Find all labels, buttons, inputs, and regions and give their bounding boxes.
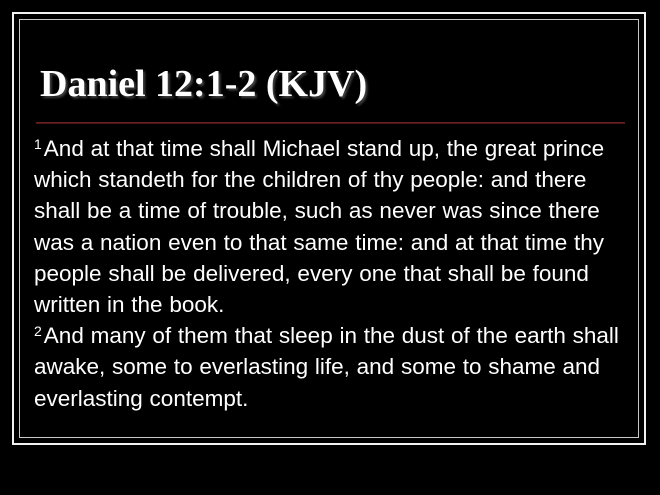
verse-text: And many of them that sleep in the dust …: [34, 323, 619, 410]
title-divider-rule: [36, 122, 625, 124]
presentation-slide: Daniel 12:1-2 (KJV) 1And at that time sh…: [0, 0, 660, 495]
verse-paragraph: 2And many of them that sleep in the dust…: [34, 320, 630, 414]
slide-title: Daniel 12:1-2 (KJV): [40, 62, 624, 106]
verse-paragraph: 1And at that time shall Michael stand up…: [34, 133, 630, 320]
verse-text: And at that time shall Michael stand up,…: [34, 136, 604, 317]
scripture-body: 1And at that time shall Michael stand up…: [34, 133, 630, 414]
verse-number: 1: [34, 136, 44, 152]
verse-number: 2: [34, 323, 44, 339]
